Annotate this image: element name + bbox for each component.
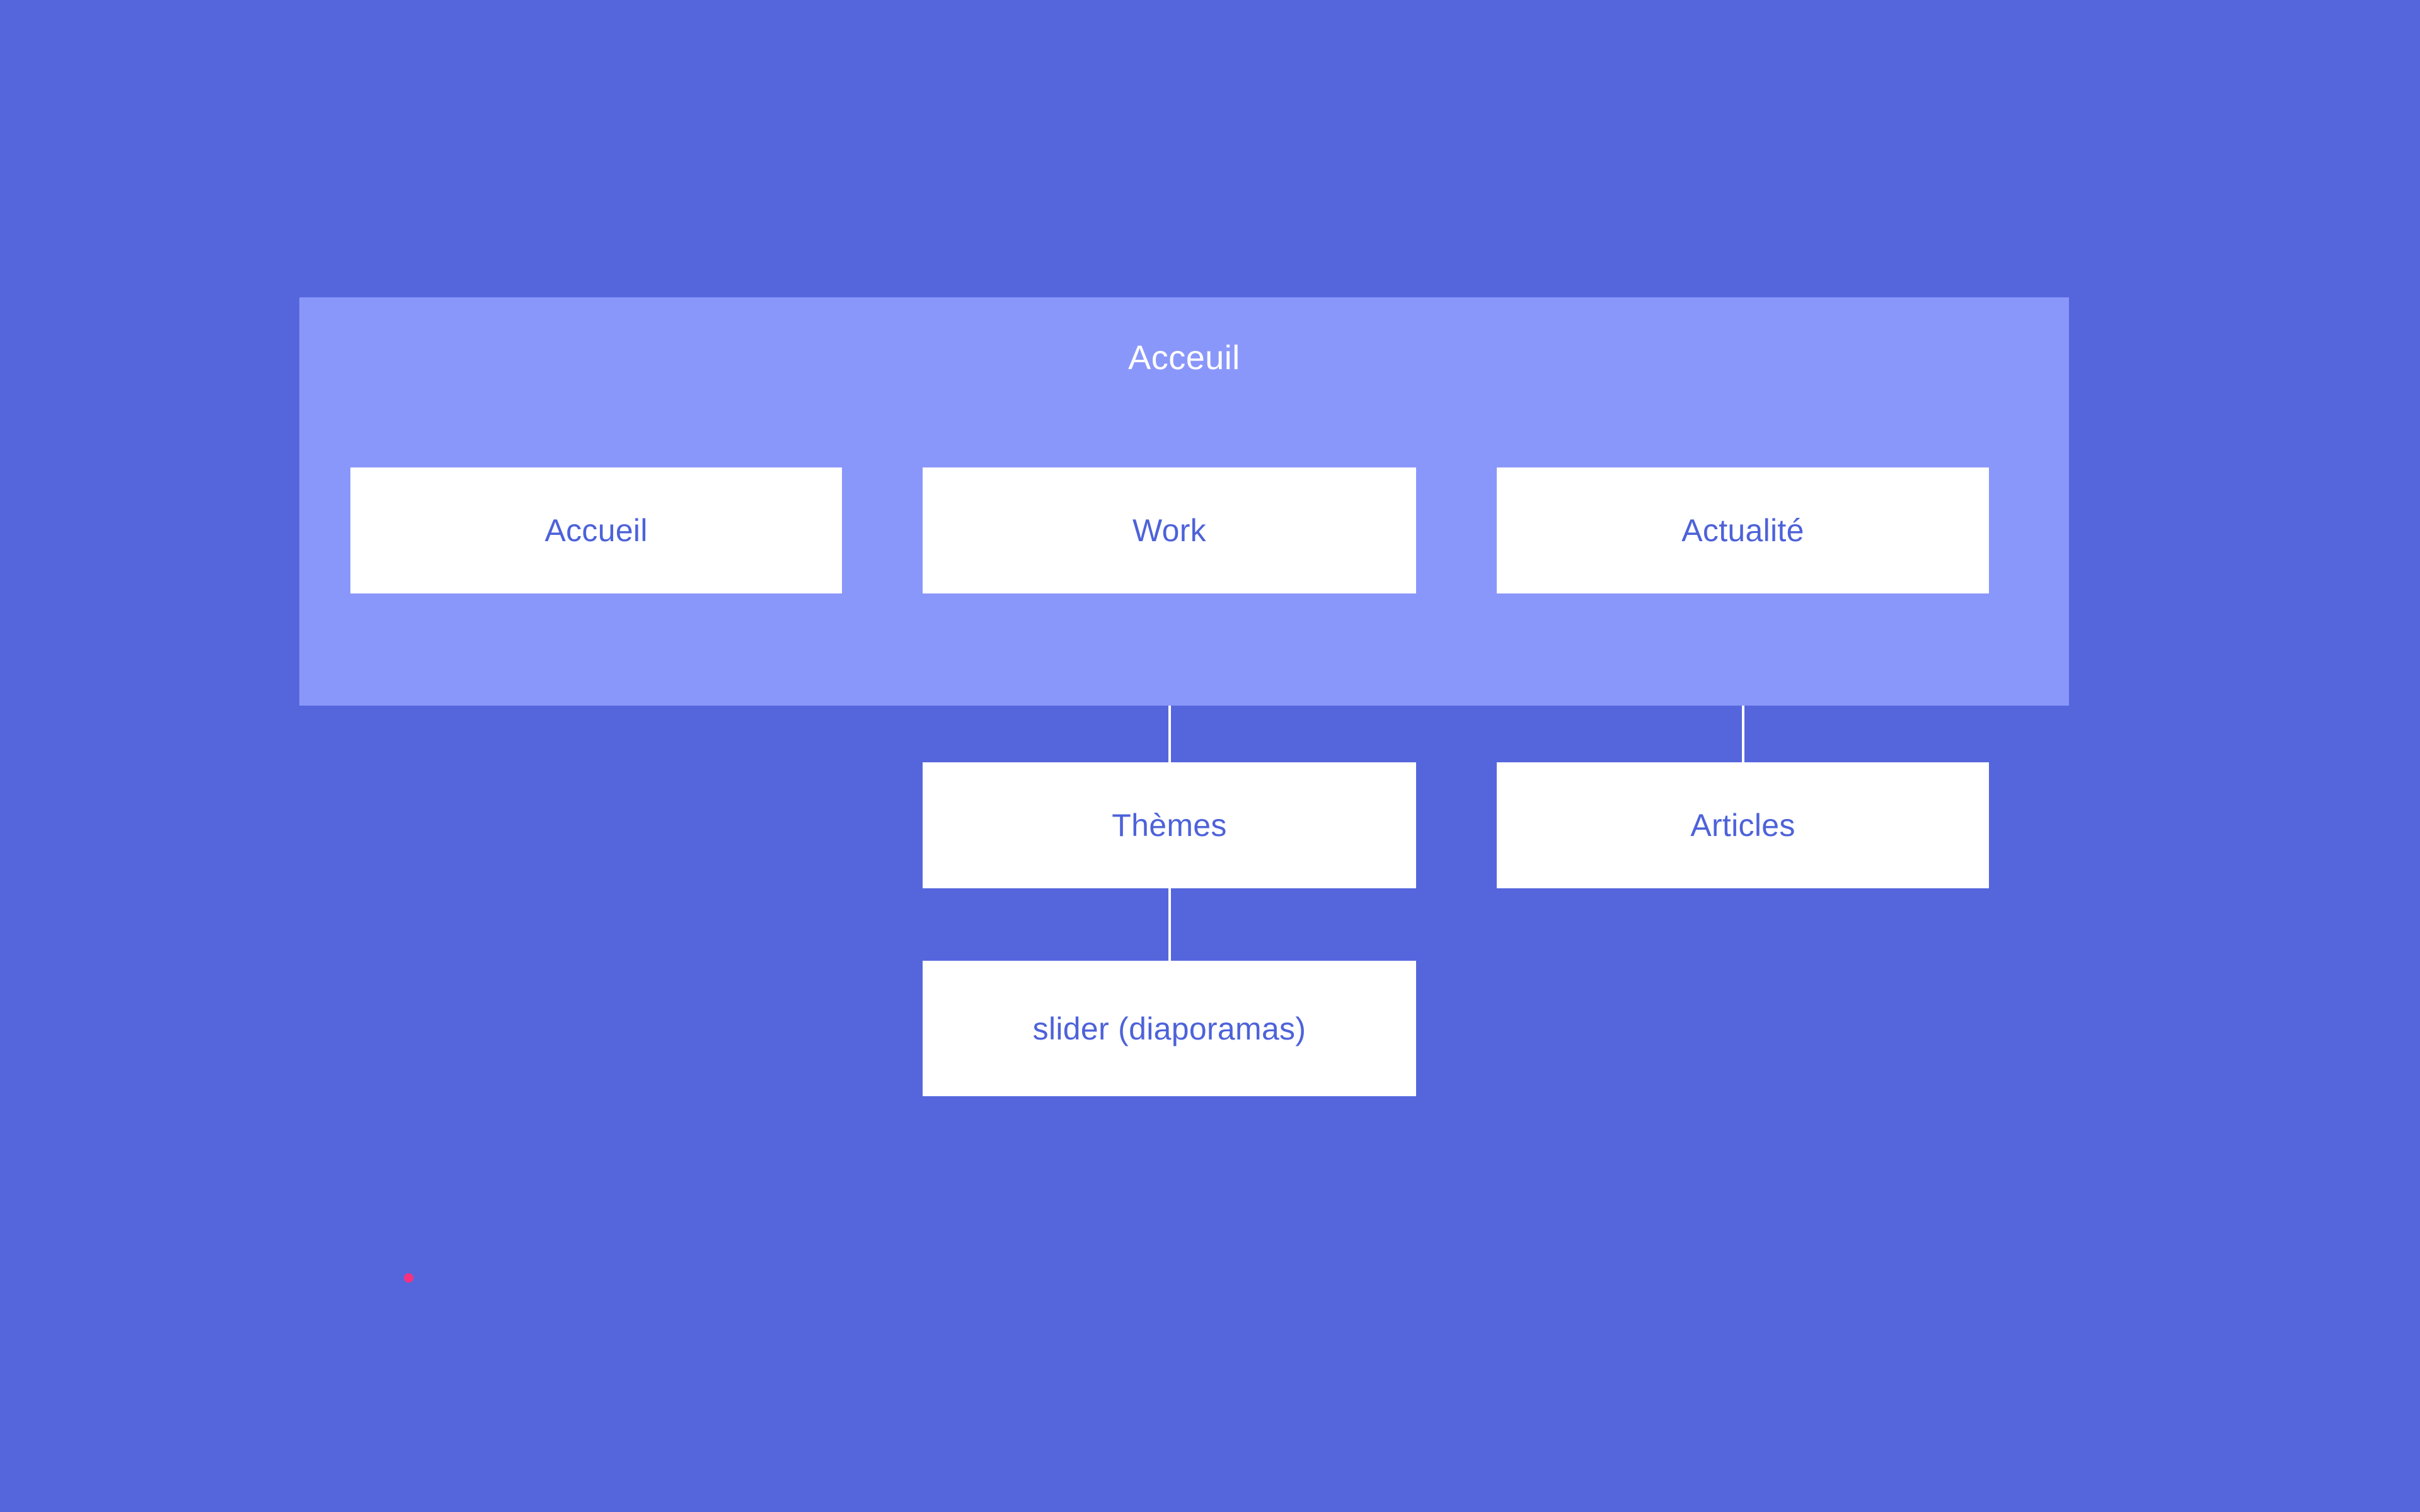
node-themes[interactable]: Thèmes — [923, 762, 1416, 888]
panel-title: Acceuil — [299, 297, 2069, 375]
node-actualite-label: Actualité — [1681, 515, 1804, 546]
node-actualite[interactable]: Actualité — [1497, 467, 1989, 593]
connector-work-to-themes — [1168, 706, 1171, 762]
node-accueil[interactable]: Accueil — [350, 467, 842, 593]
connector-actualite-to-articles — [1742, 706, 1744, 762]
node-themes-label: Thèmes — [1112, 810, 1226, 841]
connector-themes-to-slider — [1168, 888, 1171, 961]
cursor-dot — [404, 1273, 413, 1283]
node-work-label: Work — [1132, 515, 1206, 546]
node-work[interactable]: Work — [923, 467, 1416, 593]
node-accueil-label: Accueil — [544, 515, 647, 546]
node-articles-label: Articles — [1690, 810, 1795, 841]
node-slider[interactable]: slider (diaporamas) — [923, 961, 1416, 1096]
diagram-canvas: Acceuil Accueil Work Actualité Thèmes Ar… — [0, 0, 2420, 1512]
node-articles[interactable]: Articles — [1497, 762, 1989, 888]
node-slider-label: slider (diaporamas) — [1033, 1013, 1306, 1045]
